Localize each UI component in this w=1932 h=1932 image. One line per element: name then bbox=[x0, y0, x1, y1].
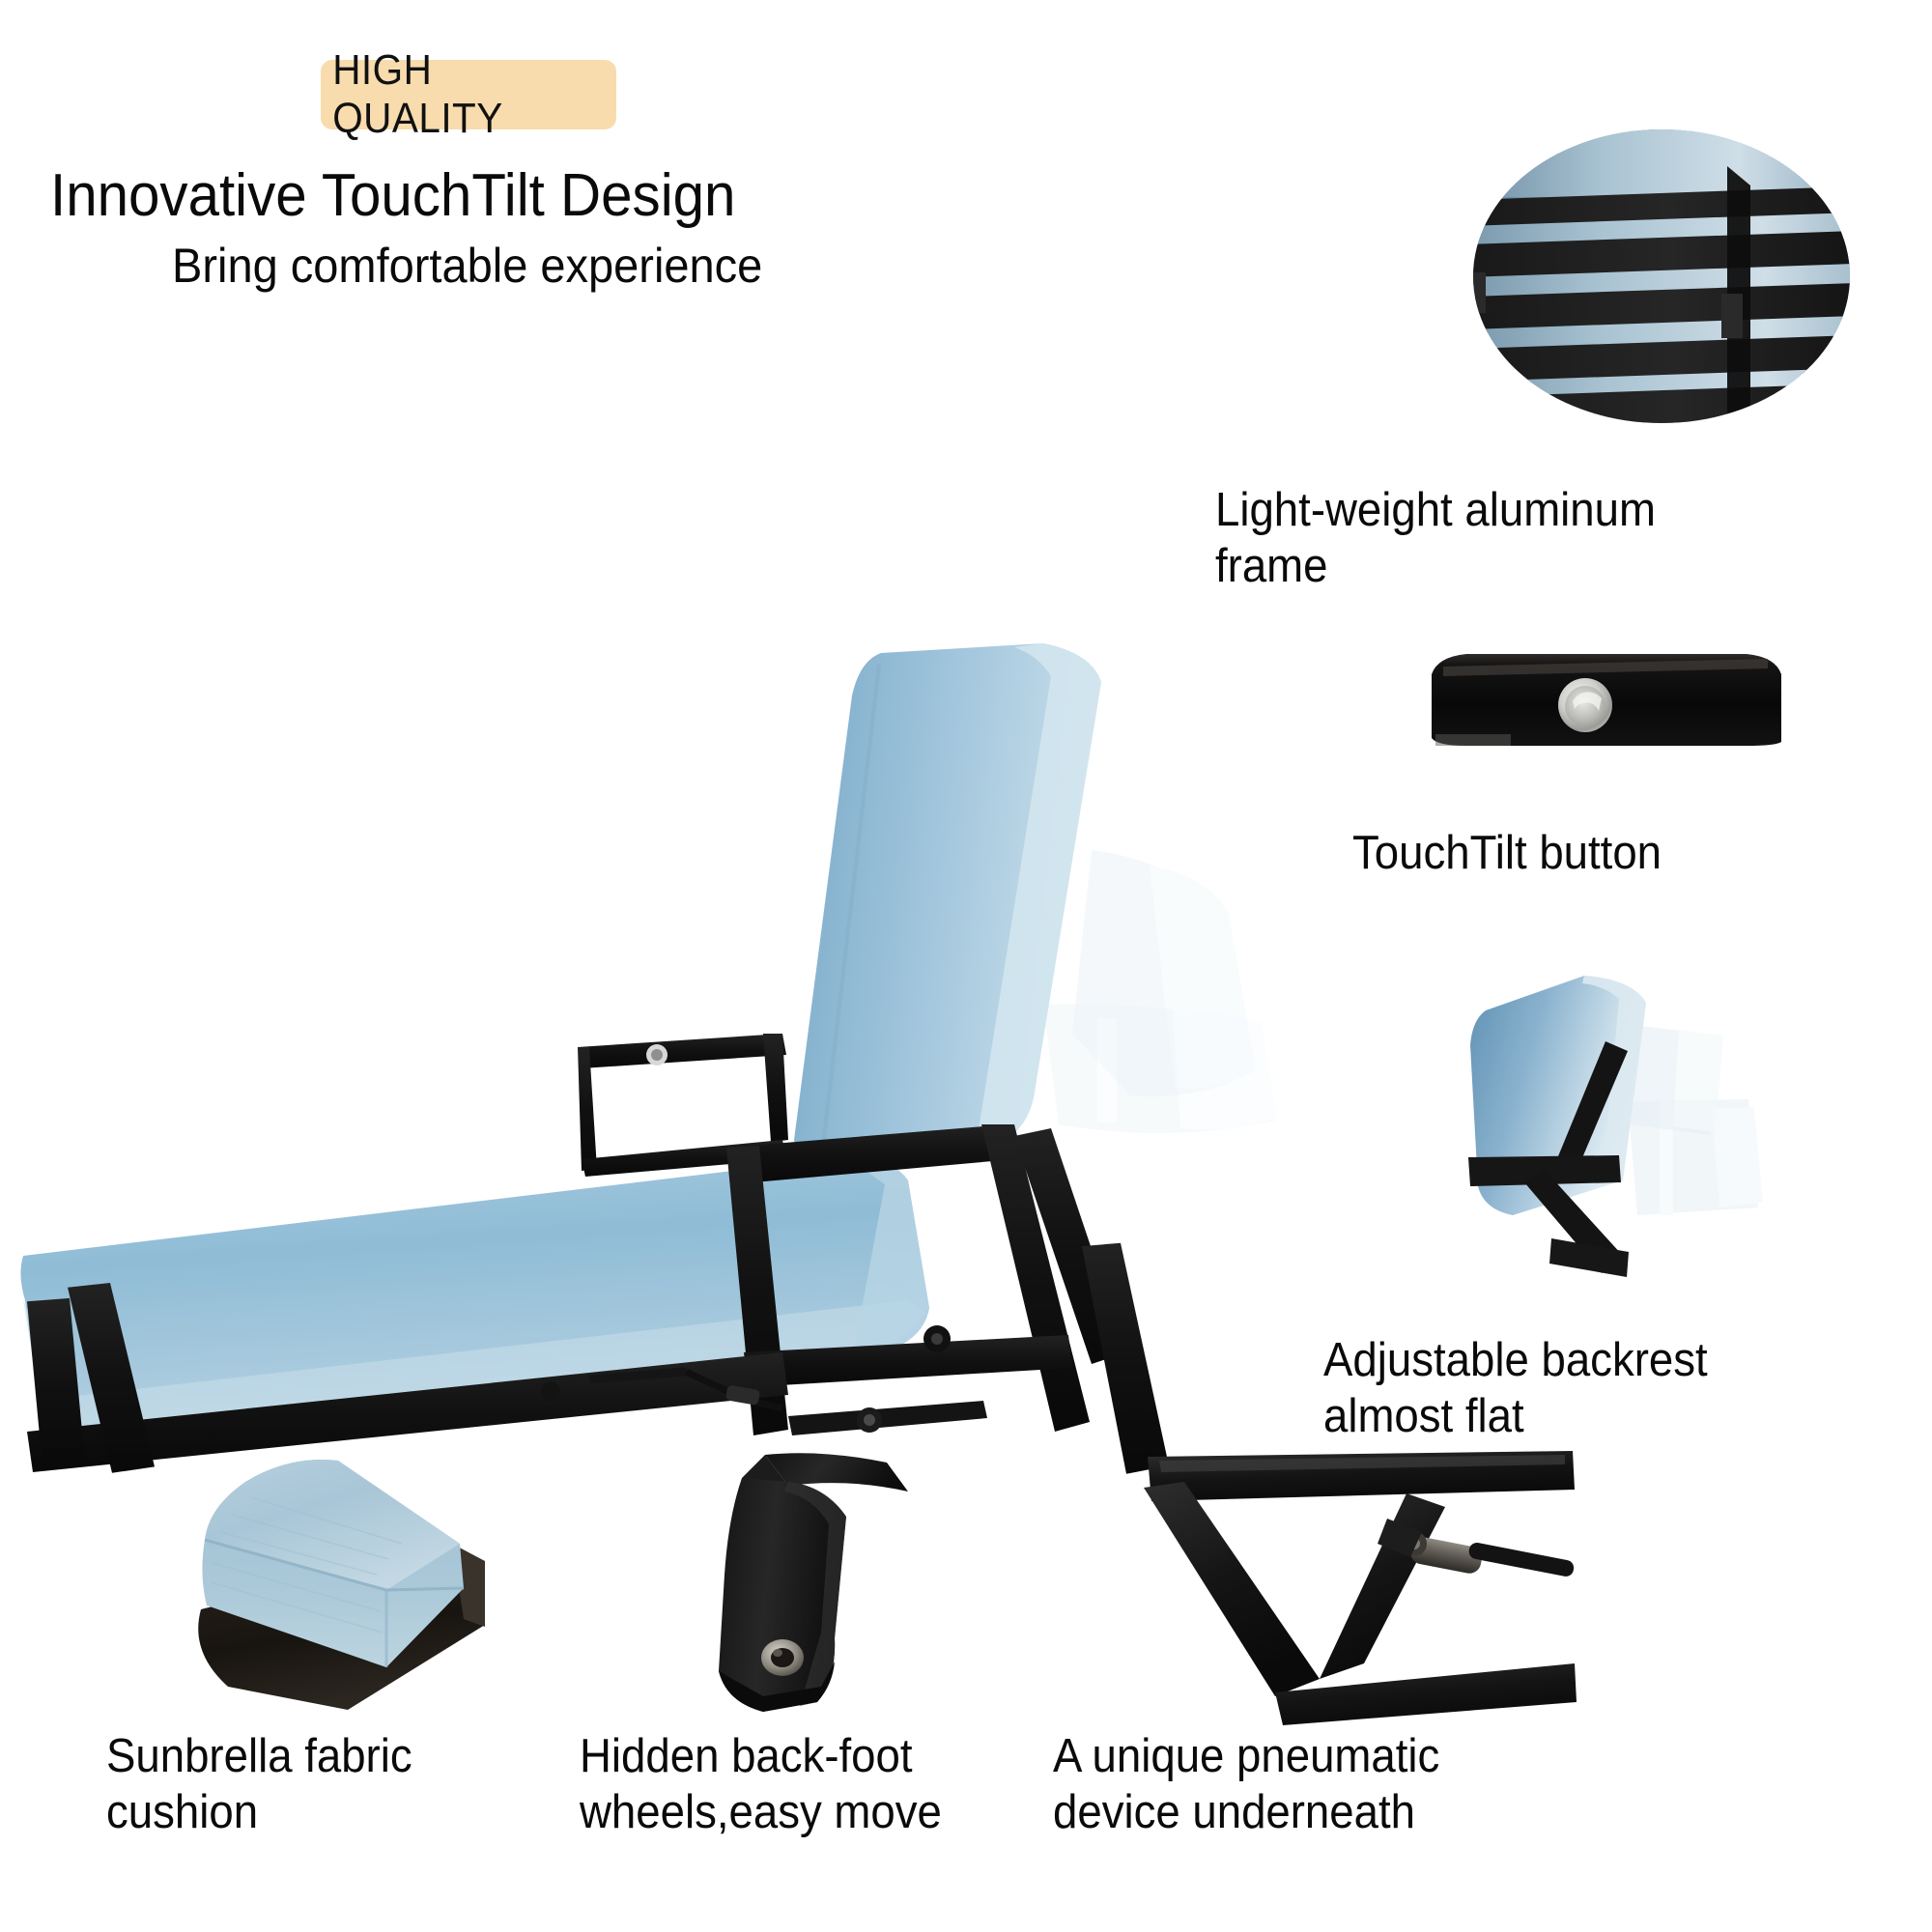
caption-touchtilt-line-1: TouchTilt button bbox=[1352, 826, 1927, 882]
caption-backrest-line-2: almost flat bbox=[1323, 1389, 1932, 1445]
caption-sunbrella-line-1: Sunbrella fabric bbox=[106, 1729, 574, 1785]
product-hero-image-chaise-lounge bbox=[10, 618, 1294, 1488]
adjustable-backrest-positions-image bbox=[1430, 966, 1913, 1285]
headline-block: Innovative TouchTilt Design Bring comfor… bbox=[50, 164, 842, 292]
pneumatic-device-closeup-image bbox=[1121, 1449, 1584, 1729]
caption-hidden-wheels: Hidden back-foot wheels,easy move bbox=[580, 1729, 1083, 1841]
caption-aluminum-line-1: Light-weight aluminum bbox=[1215, 483, 1932, 539]
caption-sunbrella-line-2: cushion bbox=[106, 1785, 574, 1841]
caption-wheels-line-2: wheels,easy move bbox=[580, 1785, 1083, 1841]
caption-pneumatic-line-1: A unique pneumatic bbox=[1053, 1729, 1610, 1785]
caption-backrest-line-1: Adjustable backrest bbox=[1323, 1333, 1932, 1389]
infographic-canvas: HIGH QUALITY Innovative TouchTilt Design… bbox=[0, 0, 1932, 1932]
aluminum-frame-closeup-circle-image bbox=[1468, 128, 1855, 425]
caption-sunbrella-cushion: Sunbrella fabric cushion bbox=[106, 1729, 574, 1841]
page-subtitle: Bring comfortable experience bbox=[172, 241, 802, 292]
caption-aluminum-line-2: frame bbox=[1215, 539, 1932, 595]
caption-touchtilt-button: TouchTilt button bbox=[1352, 826, 1927, 882]
hidden-back-foot-wheel-closeup-image bbox=[618, 1449, 976, 1729]
caption-pneumatic-device: A unique pneumatic device underneath bbox=[1053, 1729, 1610, 1841]
page-title: Innovative TouchTilt Design bbox=[50, 164, 795, 227]
high-quality-badge-label: HIGH QUALITY bbox=[332, 46, 605, 143]
caption-adjustable-backrest: Adjustable backrest almost flat bbox=[1323, 1333, 1932, 1445]
caption-pneumatic-line-2: device underneath bbox=[1053, 1785, 1610, 1841]
caption-aluminum-frame: Light-weight aluminum frame bbox=[1215, 483, 1932, 595]
caption-wheels-line-1: Hidden back-foot bbox=[580, 1729, 1083, 1785]
high-quality-badge: HIGH QUALITY bbox=[321, 60, 616, 129]
sunbrella-cushion-closeup-image bbox=[145, 1447, 551, 1727]
touchtilt-button-closeup-image bbox=[1428, 645, 1785, 753]
